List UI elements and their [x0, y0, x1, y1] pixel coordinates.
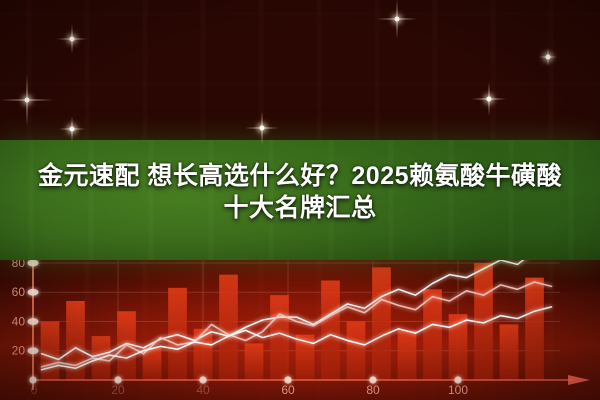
chart-bar — [321, 281, 340, 380]
chart-bar — [423, 289, 442, 380]
chart-bar — [245, 343, 264, 380]
y-tick-marker — [28, 318, 39, 325]
y-tick-label: 60 — [12, 285, 26, 299]
x-tick-label: 40 — [196, 383, 210, 397]
chart-bar — [372, 267, 391, 380]
x-tick-label: 80 — [366, 383, 380, 397]
x-tick-label: 20 — [111, 383, 125, 397]
chart-bar — [398, 330, 417, 380]
x-tick-label: 0 — [31, 383, 38, 397]
y-tick-marker — [28, 289, 39, 296]
y-tick-label: 20 — [12, 344, 26, 358]
chart-bar — [525, 278, 544, 380]
x-tick-label: 60 — [281, 383, 295, 397]
chart-bar — [41, 321, 60, 380]
title-line-1: 金元速配 想长高选什么好？2025赖氨酸牛磺酸 — [0, 160, 600, 192]
chart-bar — [219, 275, 238, 380]
poster-title: 金元速配 想长高选什么好？2025赖氨酸牛磺酸 十大名牌汇总 — [0, 160, 600, 224]
chart-bar — [270, 295, 289, 380]
y-tick-label: 40 — [12, 314, 26, 328]
chart-bar — [347, 321, 366, 380]
y-tick-marker — [28, 347, 39, 354]
y-tick-marker — [28, 260, 39, 267]
title-line-2: 十大名牌汇总 — [0, 192, 600, 224]
chart-bar — [500, 324, 519, 380]
x-tick-label: 100 — [448, 383, 468, 397]
poster-canvas: 20406080100204060801000 金元速配 想长高选什么好？202… — [0, 0, 600, 400]
x-axis-arrow-icon — [568, 375, 590, 385]
